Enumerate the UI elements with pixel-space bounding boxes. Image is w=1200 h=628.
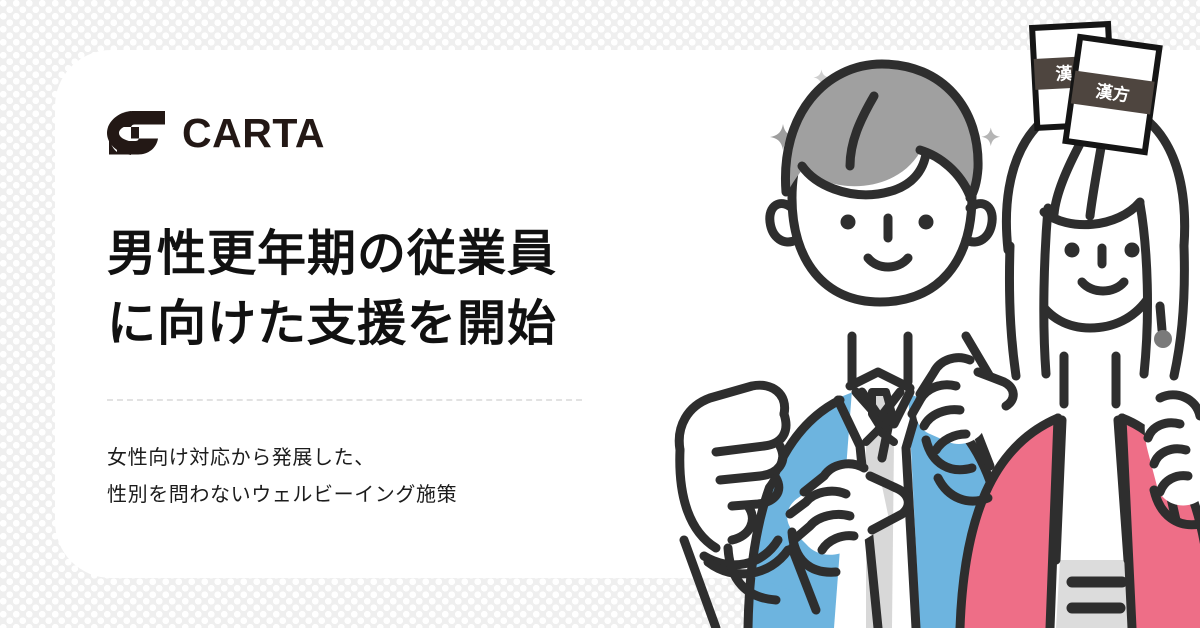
subtitle-line-1: 女性向け対応から発展した、 — [107, 439, 627, 476]
subtitle-line-2: 性別を問わないウェルビーイング施策 — [107, 476, 627, 513]
man-figure — [677, 64, 1012, 628]
text-column: CARTA 男性更年期の従業員 に向けた支援を開始 女性向け対応から発展した、 … — [107, 105, 627, 513]
kampo-packet-front: 漢方 — [1066, 37, 1160, 152]
carta-logo: CARTA — [107, 105, 627, 161]
subtitle: 女性向け対応から発展した、 性別を問わないウェルビーイング施策 — [107, 439, 627, 513]
carta-wordmark: CARTA — [182, 113, 325, 154]
kampo-packets: 漢方 漢方 — [1010, 18, 1190, 178]
headline-line-1: 男性更年期の従業員 — [107, 219, 627, 289]
headline-line-2: に向けた支援を開始 — [107, 289, 627, 359]
carta-logo-mark — [107, 111, 169, 155]
divider — [107, 399, 582, 401]
page-title: 男性更年期の従業員 に向けた支援を開始 — [107, 219, 627, 358]
